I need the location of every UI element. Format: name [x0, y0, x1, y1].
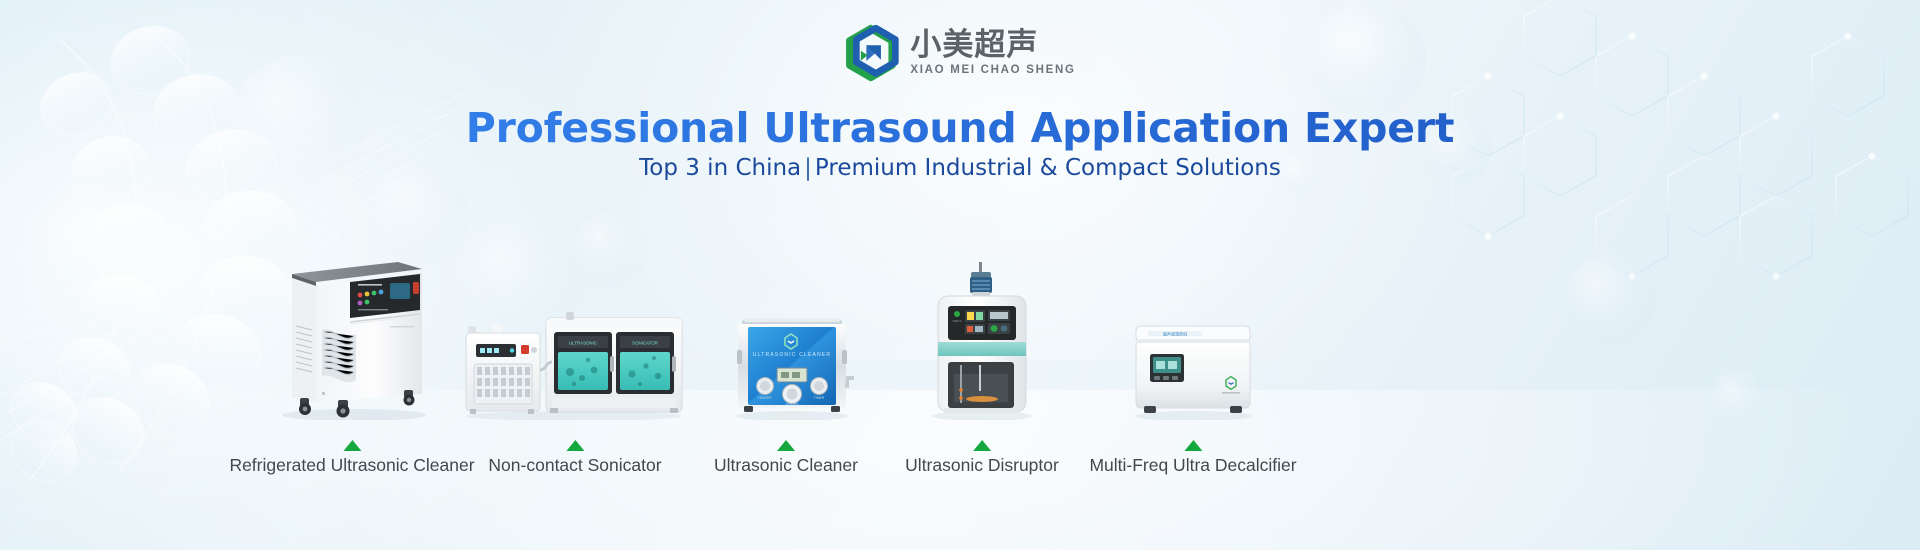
- svg-text:超声波清洗机: 超声波清洗机: [1163, 331, 1187, 337]
- product-label-text-2: Ultrasonic Cleaner: [714, 455, 858, 476]
- brand-logo[interactable]: 小美超声 XIAO MEI CHAO SHENG: [844, 24, 1075, 82]
- svg-text:XMCS: XMCS: [953, 319, 962, 323]
- svg-text:POWER: POWER: [786, 403, 799, 407]
- hero-subtitle-left: Top 3 in China: [639, 155, 801, 181]
- product-image-ultrasonic-disruptor[interactable]: XMCS: [926, 262, 1038, 420]
- svg-text:SONICATOR: SONICATOR: [632, 341, 658, 346]
- product-label-1[interactable]: Non-contact Sonicator: [488, 440, 661, 476]
- ultrasonic-disruptor-art: XMCS: [926, 262, 1038, 420]
- svg-text:TIMER: TIMER: [814, 396, 825, 400]
- product-showcase-row: ULTRASONIC SONICATOR: [0, 190, 1920, 420]
- product-image-refrigerated-ultrasonic-cleaner[interactable]: [272, 252, 432, 420]
- svg-text:ULTRASONIC CLEANER: ULTRASONIC CLEANER: [753, 352, 831, 358]
- product-label-text-1: Non-contact Sonicator: [488, 455, 661, 476]
- decalcifier-art: 超声波清洗机: [1130, 320, 1256, 420]
- svg-text:HEATER: HEATER: [758, 396, 772, 400]
- ultrasonic-cleaner-art: ULTRASONIC CLEANER HEATER TIMER POWER: [730, 310, 854, 420]
- refrigerated-cleaner-art: [272, 252, 432, 420]
- product-labels-row: Refrigerated Ultrasonic Cleaner Non-cont…: [0, 440, 1920, 510]
- brand-name-en: XIAO MEI CHAO SHENG: [910, 64, 1075, 76]
- product-label-text-4: Multi-Freq Ultra Decalcifier: [1089, 455, 1296, 476]
- product-label-text-0: Refrigerated Ultrasonic Cleaner: [229, 455, 474, 476]
- brand-name-cn: 小美超声: [910, 30, 1075, 62]
- hexagon-cube-logo-icon: [844, 24, 900, 82]
- chiller-unit-icon: [466, 324, 540, 414]
- up-triangle-marker-icon: [343, 440, 361, 451]
- hero-headline: Professional Ultrasound Application Expe…: [0, 104, 1920, 152]
- product-image-ultrasonic-cleaner[interactable]: ULTRASONIC CLEANER HEATER TIMER POWER: [730, 310, 854, 420]
- brand-logo-container[interactable]: 小美超声 XIAO MEI CHAO SHENG: [0, 24, 1920, 82]
- hero-subtitle: Top 3 in China|Premium Industrial & Comp…: [0, 155, 1920, 181]
- hero-subtitle-separator: |: [801, 155, 815, 181]
- non-contact-sonicator-art: ULTRASONIC SONICATOR: [462, 310, 687, 420]
- sonicator-cabinet-icon: ULTRASONIC SONICATOR: [546, 312, 682, 413]
- brand-logo-text: 小美超声 XIAO MEI CHAO SHENG: [910, 30, 1075, 77]
- product-label-2[interactable]: Ultrasonic Cleaner: [714, 440, 858, 476]
- product-image-multi-freq-ultra-decalcifier[interactable]: 超声波清洗机: [1130, 320, 1256, 420]
- chiller-grille-icon: [474, 364, 532, 404]
- transducer-horn-icon: [970, 262, 992, 297]
- product-label-3[interactable]: Ultrasonic Disruptor: [905, 440, 1059, 476]
- hero-subtitle-right: Premium Industrial & Compact Solutions: [815, 155, 1281, 181]
- up-triangle-marker-icon: [777, 440, 795, 451]
- up-triangle-marker-icon: [1184, 440, 1202, 451]
- up-triangle-marker-icon: [566, 440, 584, 451]
- product-label-4[interactable]: Multi-Freq Ultra Decalcifier: [1089, 440, 1296, 476]
- product-label-0[interactable]: Refrigerated Ultrasonic Cleaner: [229, 440, 474, 476]
- svg-text:ULTRASONIC: ULTRASONIC: [569, 341, 597, 346]
- up-triangle-marker-icon: [973, 440, 991, 451]
- product-image-non-contact-sonicator[interactable]: ULTRASONIC SONICATOR: [462, 310, 687, 420]
- vent-grille-icon: [322, 329, 356, 382]
- product-label-text-3: Ultrasonic Disruptor: [905, 455, 1059, 476]
